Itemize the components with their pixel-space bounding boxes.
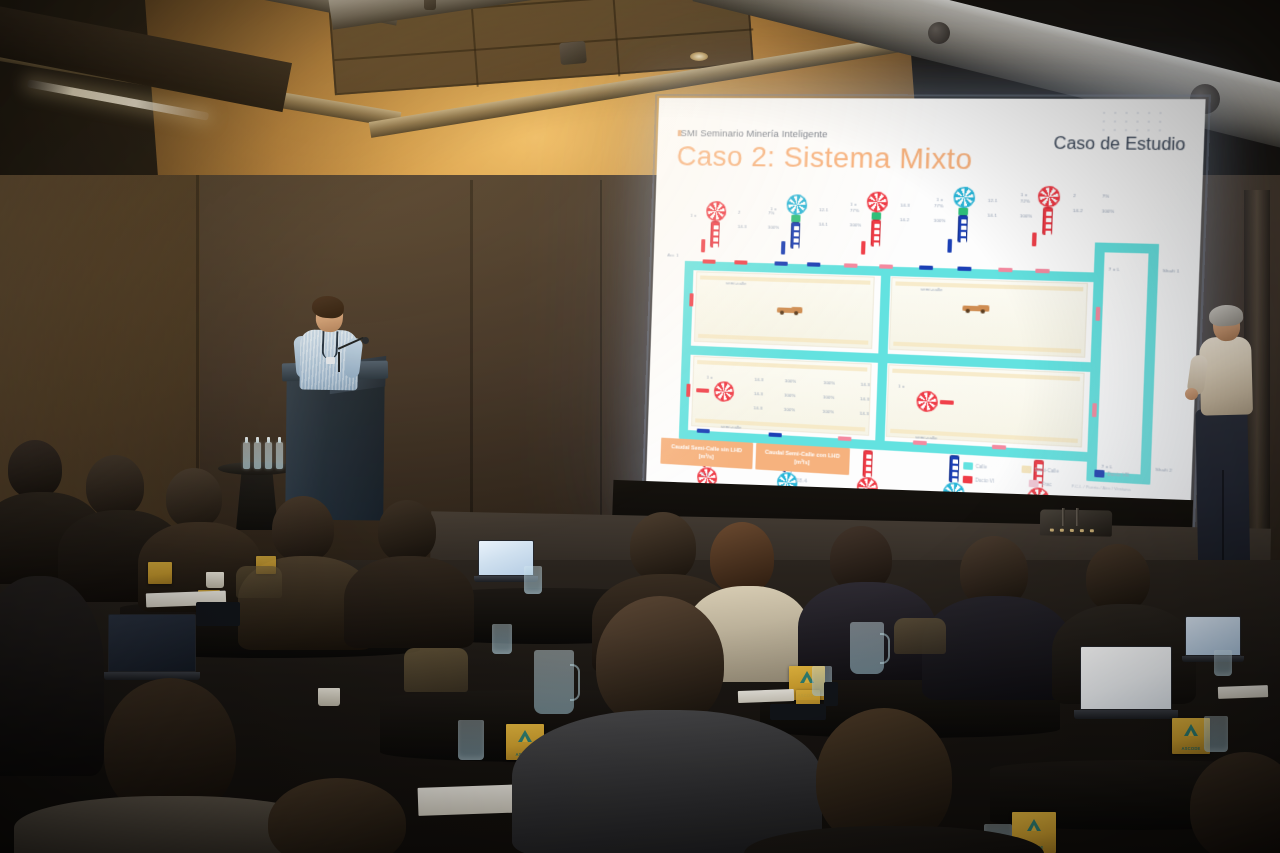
regulator-pink-h: [913, 440, 927, 445]
diagram-annotation: 100%: [768, 225, 780, 230]
legend-swatch-semicalle: [1021, 465, 1031, 473]
regulator-blue-h: [769, 432, 782, 437]
ascode-logo-icon: [1027, 819, 1041, 831]
audience-shoulders: [344, 556, 474, 648]
ascode-logo-icon: [1184, 724, 1198, 736]
regulator-pink-h: [998, 268, 1012, 273]
regulator-red: [861, 241, 866, 255]
regulator-red: [1032, 232, 1037, 246]
laptop-screen: [1185, 616, 1241, 656]
lhd-vehicle-icon: [962, 304, 990, 313]
audience-shoulders-foreground: [512, 710, 822, 853]
regulator-red-v: [686, 384, 690, 397]
regulator-blue-h: [774, 261, 787, 265]
phone-device[interactable]: [824, 682, 838, 706]
regulator-red: [701, 239, 705, 252]
lhd-vehicle-icon: [777, 306, 804, 315]
drinking-glass: [1214, 650, 1232, 676]
monitor-led: [1090, 529, 1094, 532]
ceiling-grid-line: [468, 0, 479, 87]
laptop-screen: [1080, 646, 1172, 710]
diagram-annotation: 14.3: [859, 411, 868, 417]
drinking-glass: [458, 720, 484, 760]
regulator-blue-h: [919, 265, 933, 270]
regulator-pink-h: [879, 264, 893, 269]
audience-head: [166, 468, 222, 528]
diagram-annotation: 14.3: [900, 202, 910, 207]
presenter-lanyard: [322, 331, 339, 360]
diagram-annotation: 1 x: [770, 206, 776, 211]
diagram-annotation: 2: [1073, 193, 1076, 198]
regulator-blue-h: [697, 429, 710, 434]
drift-connector-top: [1095, 242, 1159, 253]
diagram-annotation: 1 x: [936, 197, 943, 202]
diagram-annotation: 100%: [785, 378, 797, 384]
diagram-annotation: Shaft 2: [1155, 467, 1172, 473]
water-pitcher: [850, 622, 884, 674]
diagram-annotation: 14.3: [860, 382, 869, 388]
duct-blue: [957, 215, 968, 243]
water-bottle: [265, 442, 272, 469]
diagram-annotation: 77%: [934, 203, 944, 208]
water-bottle: [254, 442, 261, 469]
laptop-keyboard-base[interactable]: [1182, 656, 1244, 662]
monitor-led: [1080, 529, 1084, 532]
monitor-led: [1070, 529, 1074, 532]
mine-ventilation-diagram: 1 x 2 7% 14.3 100% 1 x 12.1 77% 14.1 100…: [661, 182, 1190, 464]
legend-label: Semi-Calle: [1034, 467, 1059, 474]
regulator-blue: [781, 241, 786, 254]
slide-title: Caso 2: Sistema Mixto: [676, 140, 973, 176]
diagram-annotation: 100%: [784, 392, 796, 398]
duct-blue: [790, 222, 800, 249]
legend-swatch-frac: [1029, 480, 1039, 488]
legend-label: Ducto VI: [975, 477, 994, 483]
audience-shoulders-foreground: [0, 576, 104, 776]
ceiling-speaker: [559, 41, 587, 65]
laptop-right[interactable]: [1074, 646, 1178, 724]
diagram-annotation: 14.3: [754, 391, 763, 397]
audience-head: [272, 496, 334, 562]
regulator-pink-v: [1092, 403, 1097, 417]
wall-seam-c: [600, 180, 602, 560]
diagram-annotation: 1 x: [898, 383, 905, 388]
laptop-screen: [108, 614, 196, 672]
diagram-annotation: 14.1: [987, 213, 997, 218]
fan-icon-blue: [786, 194, 807, 215]
monitor-led: [1050, 529, 1054, 532]
fan-icon-red: [706, 201, 727, 222]
second-speaker-hand: [1185, 388, 1198, 400]
microphone-pole: [338, 352, 340, 372]
regulator-pink-h: [838, 436, 852, 441]
tablet-device[interactable]: [196, 602, 240, 626]
diagram-annotation: 14.2: [900, 217, 910, 222]
duct-blue: [949, 455, 960, 483]
slide-kicker: Caso de Estudio: [1053, 135, 1186, 156]
fan-icon-red: [1038, 186, 1061, 208]
regulator-pink-h: [844, 263, 858, 268]
cocktail-table-base: [236, 468, 278, 530]
diagram-annotation: 12.1: [819, 207, 828, 212]
audience-head-long-hair: [710, 522, 774, 594]
ceiling-speaker-round: [928, 22, 950, 44]
regulator-pink-h: [1035, 269, 1049, 274]
audience-head: [1086, 544, 1150, 612]
duct-red: [862, 450, 872, 477]
diagram-annotation: 100%: [933, 218, 945, 223]
phone-device[interactable]: [770, 704, 826, 720]
diagram-annotation: 7%: [1102, 193, 1109, 198]
drinking-glass: [492, 624, 512, 654]
regulator-blue-h: [807, 262, 820, 266]
legend-item-calle: Calle: [963, 462, 987, 471]
results-table-header-cell: Caudal Semi-Calle sin LHD [m³/s]: [660, 437, 752, 469]
water-bottle: [243, 442, 250, 469]
regulator-red-v: [689, 293, 693, 306]
regulator-blue-h: [957, 266, 971, 271]
legend-item-frac: Frac: [1029, 480, 1052, 489]
legend-note: P.C.I. / Puerta / Aire / Ventana: [1071, 483, 1130, 492]
chair-back: [894, 618, 946, 654]
audience-head: [378, 500, 436, 562]
duct-red: [1042, 207, 1053, 235]
diagram-annotation: 100%: [823, 380, 835, 386]
second-speaker-torso: [1199, 336, 1253, 415]
audience-head: [8, 440, 62, 498]
water-bottle: [276, 442, 283, 469]
water-pitcher: [534, 650, 574, 714]
legend-label: Calle: [976, 464, 987, 470]
dot-grid-decoration: [1102, 112, 1171, 136]
regulator-pink-h: [992, 445, 1006, 450]
monitor-led: [1060, 529, 1064, 532]
regulator-blue: [947, 239, 952, 253]
legend-swatch-ducto-vr: [1094, 470, 1104, 478]
diagram-annotation: 100%: [822, 409, 834, 415]
results-table-header-cell: Caudal Semi-Calle con LHD [m³/s]: [755, 443, 850, 475]
legend-swatch-ducto-vi: [963, 476, 973, 484]
drinking-glass: [524, 566, 542, 594]
duct-red: [710, 221, 720, 247]
projector-mount: [424, 0, 436, 10]
audience-head: [86, 455, 144, 517]
diagram-annotation: 1 x: [690, 213, 696, 218]
laptop-keyboard-base[interactable]: [1074, 710, 1178, 719]
legend-item-ducto-vr: Ducto VR: [1094, 470, 1129, 480]
fan-icon-red: [867, 192, 889, 213]
audience-head: [630, 512, 696, 582]
laptop-keyboard-base[interactable]: [104, 672, 200, 680]
stage-mic-stand: [1062, 508, 1065, 526]
laptop-far-right[interactable]: [1182, 616, 1244, 666]
diagram-annotation: 2: [738, 210, 741, 215]
diagram-annotation: Acc 1: [667, 252, 678, 257]
coffee-cup: [206, 572, 224, 588]
diagram-annotation: 100%: [823, 394, 835, 400]
diagram-annotation: 1 x: [1021, 192, 1028, 197]
diagram-annotation: semi-calle: [915, 434, 937, 440]
ceiling-downlight: [690, 52, 708, 61]
diagram-annotation: 12.1: [988, 198, 998, 203]
diagram-annotation: semi-calle: [920, 286, 942, 292]
regulator-pink-v: [1095, 307, 1100, 321]
presenter-badge: [326, 357, 335, 364]
legend-label: Ducto VR: [1107, 471, 1129, 478]
chair-back: [236, 566, 282, 598]
regulator-red-h: [940, 400, 954, 405]
diagram-annotation: 72%: [1020, 198, 1030, 203]
audience-head-foreground: [596, 596, 724, 728]
diagram-annotation: 14.3: [754, 377, 763, 382]
legend-item-semicalle: Semi-Calle: [1021, 465, 1059, 475]
slide-eyebrow: IISMI Seminario Minería Inteligente: [677, 128, 828, 140]
regulator-red-h: [696, 388, 709, 393]
stage-mic-stand-2: [1076, 508, 1079, 526]
diagram-annotation: 14.2: [1073, 208, 1083, 214]
coffee-cup: [318, 688, 340, 706]
legend-swatch-calle: [963, 462, 973, 470]
chair-back: [404, 648, 468, 692]
diagram-annotation: 100%: [784, 407, 796, 413]
laptop-foreground[interactable]: [104, 614, 200, 686]
second-speaker-hair: [1208, 304, 1243, 327]
diagram-annotation: 14.3: [738, 224, 747, 229]
regulator-red-h: [734, 260, 747, 264]
slide-eyebrow-text: SMI Seminario Minería Inteligente: [680, 128, 827, 140]
regulator-red-h: [703, 259, 716, 263]
diagram-annotation: 14.3: [860, 396, 869, 402]
diagram-annotation: 100%: [1102, 208, 1115, 214]
drinking-glass: [1204, 716, 1228, 752]
table-tent-card: [148, 562, 172, 584]
diagram-annotation: 7 x L: [1108, 266, 1120, 272]
diagram-annotation: 100%: [849, 222, 861, 227]
diagram-annotation: 14.1: [819, 222, 828, 227]
fan-icon-blue: [953, 187, 975, 208]
microphone-head: [362, 337, 369, 344]
diagram-annotation: 1 x: [850, 202, 857, 207]
legend-label: Frac: [1041, 481, 1051, 487]
diagram-annotation: semi-calle: [726, 280, 747, 286]
paper-sheet: [738, 689, 794, 703]
paper-sheet: [1218, 685, 1268, 699]
diagram-annotation: 77%: [850, 208, 859, 213]
ascode-logo-icon: [518, 730, 532, 742]
legend-item-ducto-vi: Ducto VI: [963, 476, 995, 485]
drift-vertical-far-right: [1140, 244, 1159, 484]
diagram-annotation: 7 x L: [1101, 464, 1112, 470]
duct-red: [871, 220, 881, 247]
conference-room-scene: IISMI Seminario Minería Inteligente Caso…: [0, 0, 1280, 853]
diagram-annotation: 1 x: [706, 375, 712, 380]
diagram-annotation: Shaft 1: [1163, 268, 1180, 274]
diagram-annotation: 100%: [1020, 213, 1033, 219]
diagram-annotation: semi-calle: [721, 424, 742, 430]
diagram-annotation: 14.3: [753, 405, 762, 411]
